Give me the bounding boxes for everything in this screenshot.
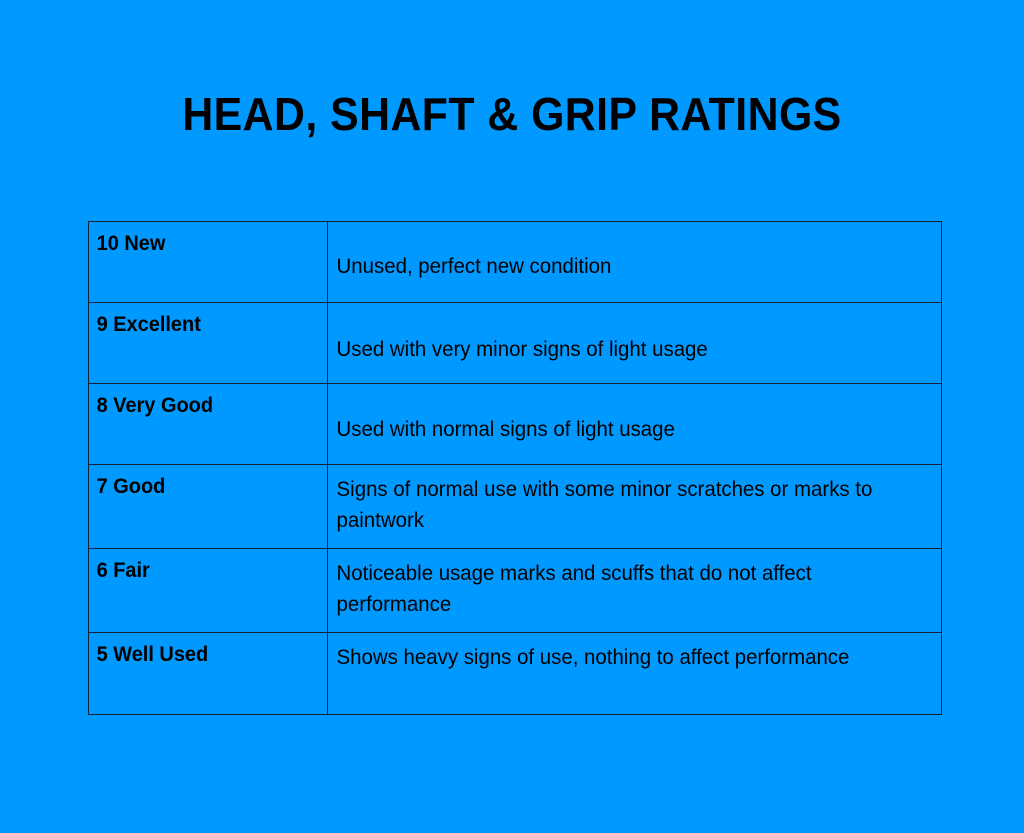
rating-label: 6 Fair <box>89 549 315 581</box>
rating-label-cell: 5 Well Used <box>89 633 328 715</box>
rating-label: 7 Good <box>89 465 315 497</box>
table-row: 8 Very Good Used with normal signs of li… <box>89 384 942 465</box>
ratings-table-body: 10 New Unused, perfect new condition 9 E… <box>89 222 942 715</box>
ratings-table: 10 New Unused, perfect new condition 9 E… <box>88 221 942 715</box>
rating-label-cell: 10 New <box>89 222 328 303</box>
slide-canvas: HEAD, SHAFT & GRIP RATINGS 10 New Unused… <box>0 0 1024 833</box>
table-row: 7 Good Signs of normal use with some min… <box>89 465 942 549</box>
rating-description-cell: Shows heavy signs of use, nothing to aff… <box>328 633 942 715</box>
rating-label-cell: 9 Excellent <box>89 303 328 384</box>
rating-label: 5 Well Used <box>89 633 315 665</box>
rating-description: Unused, perfect new condition <box>328 222 910 282</box>
page-title: HEAD, SHAFT & GRIP RATINGS <box>36 90 988 138</box>
rating-description-cell: Used with normal signs of light usage <box>328 384 942 465</box>
rating-description-cell: Signs of normal use with some minor scra… <box>328 465 942 549</box>
rating-label-cell: 7 Good <box>89 465 328 549</box>
rating-description: Shows heavy signs of use, nothing to aff… <box>328 633 910 673</box>
rating-label: 9 Excellent <box>89 303 315 335</box>
rating-label-cell: 6 Fair <box>89 549 328 633</box>
rating-description-cell: Unused, perfect new condition <box>328 222 942 303</box>
rating-label-cell: 8 Very Good <box>89 384 328 465</box>
table-row: 9 Excellent Used with very minor signs o… <box>89 303 942 384</box>
rating-description-cell: Noticeable usage marks and scuffs that d… <box>328 549 942 633</box>
table-row: 6 Fair Noticeable usage marks and scuffs… <box>89 549 942 633</box>
rating-label: 10 New <box>89 222 315 254</box>
rating-description-cell: Used with very minor signs of light usag… <box>328 303 942 384</box>
table-row: 5 Well Used Shows heavy signs of use, no… <box>89 633 942 715</box>
table-row: 10 New Unused, perfect new condition <box>89 222 942 303</box>
rating-label: 8 Very Good <box>89 384 315 416</box>
rating-description: Signs of normal use with some minor scra… <box>328 465 910 535</box>
rating-description: Noticeable usage marks and scuffs that d… <box>328 549 910 619</box>
rating-description: Used with normal signs of light usage <box>328 384 910 445</box>
rating-description: Used with very minor signs of light usag… <box>328 303 910 365</box>
